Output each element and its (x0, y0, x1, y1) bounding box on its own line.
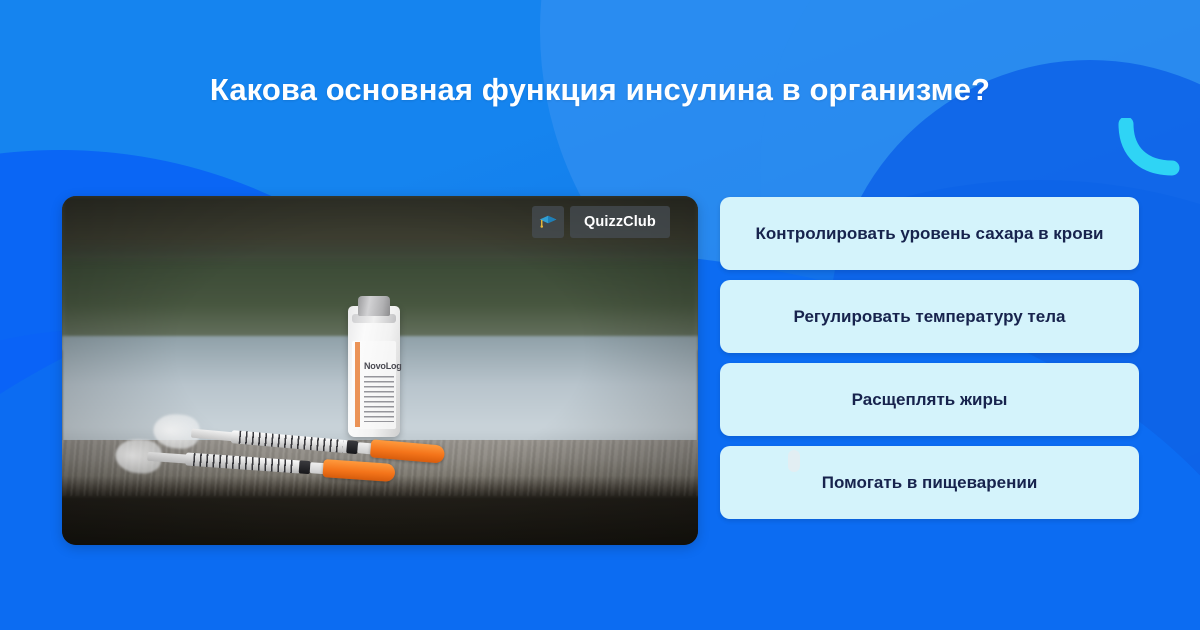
brand-name: QuizzClub (570, 206, 670, 238)
graduation-cap-icon (532, 206, 564, 238)
answer-option-4[interactable]: Помогать в пищеварении (720, 446, 1139, 519)
quiz-card: Какова основная функция инсулина в орган… (0, 0, 1200, 630)
answer-list: Контролировать уровень сахара в крови Ре… (720, 197, 1139, 519)
question-title: Какова основная функция инсулина в орган… (0, 72, 1200, 108)
question-image-content: NovoLog (62, 196, 698, 545)
brand-badge[interactable]: QuizzClub (532, 206, 670, 238)
answer-option-3[interactable]: Расщеплять жиры (720, 363, 1139, 436)
cyan-arc-icon (1118, 118, 1180, 176)
question-image: NovoLog (62, 196, 698, 545)
scrollbar-thumb[interactable] (788, 450, 800, 472)
answer-option-2[interactable]: Регулировать температуру тела (720, 280, 1139, 353)
image-vignette (62, 196, 698, 545)
answer-option-1[interactable]: Контролировать уровень сахара в крови (720, 197, 1139, 270)
